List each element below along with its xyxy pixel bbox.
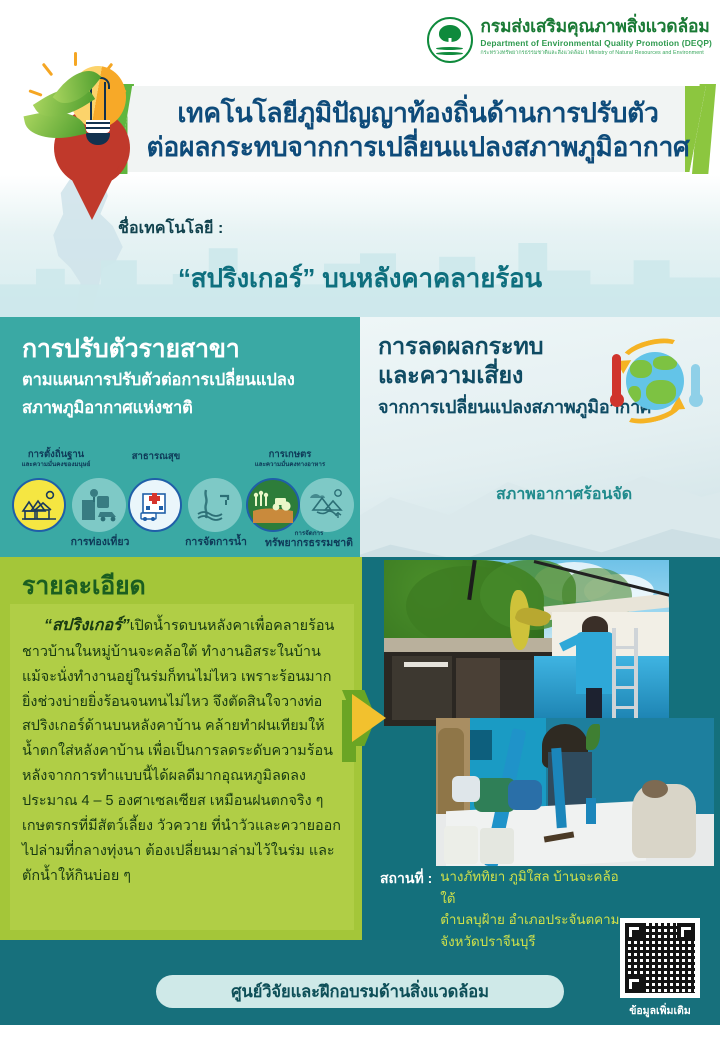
hospital-ambulance-icon[interactable] <box>128 478 182 532</box>
globe-thermometer-icon <box>594 334 702 430</box>
organization-logo-block: กรมส่งเสริมคุณภาพสิ่งแวดล้อม Department … <box>427 16 712 63</box>
org-name-thai: กรมส่งเสริมคุณภาพสิ่งแวดล้อม <box>480 17 712 37</box>
title-line-1: เทคโนโลยีภูมิปัญญาท้องถิ่นด้านการปรับตัว <box>177 96 658 130</box>
bottom-white-strip <box>0 1025 720 1040</box>
footer-pill: ศูนย์วิจัยและฝึกอบรมด้านสิ่งแวดล้อม <box>156 975 564 1008</box>
poster-root: กรมส่งเสริมคุณภาพสิ่งแวดล้อม Department … <box>0 0 720 1040</box>
technology-name: “สปริงเกอร์” บนหลังคาคลายร้อน <box>0 258 720 299</box>
place-label: สถานที่ : <box>380 866 432 890</box>
tree-water-circle-icon <box>427 17 473 63</box>
sector-label-natural-resources: การจัดการ ทรัพยากรธรรมชาติ <box>258 530 360 550</box>
details-title: รายละเอียด <box>22 566 146 606</box>
sector-label-water: การจัดการน้ำ <box>168 536 264 548</box>
adaptation-heading: การปรับตัวรายสาขา <box>22 334 295 365</box>
sector-label-public-health: สาธารณสุข <box>108 452 204 463</box>
adaptation-sub-line2: สภาพภูมิอากาศแห่งชาติ <box>22 396 295 421</box>
place-line-3: จังหวัดปราจีนบุรี <box>440 931 630 953</box>
tourism-city-car-icon[interactable] <box>72 478 126 532</box>
sector-label-tourism: การท่องเที่ยว <box>48 536 152 548</box>
details-body: “สปริงเกอร์”เปิดน้ำรดบนหลังคาเพื่อคลายร้… <box>22 612 342 889</box>
technology-label: ชื่อเทคโนโลยี : <box>118 216 223 241</box>
title-line-2: ต่อผลกระทบจากการเปลี่ยนแปลงสภาพภูมิอากาศ <box>146 130 689 164</box>
org-name-english: Department of Environmental Quality Prom… <box>480 38 712 49</box>
adaptation-panel-heading: การปรับตัวรายสาขา ตามแผนการปรับตัวต่อการ… <box>22 334 295 421</box>
sector-icons-row: การตั้งถิ่นฐาน และความมั่นคงของมนุษย์ <box>0 450 360 558</box>
village-houses-icon[interactable] <box>12 478 66 532</box>
earth-globe-icon <box>626 352 684 410</box>
thermometer-hot-icon <box>612 354 621 398</box>
water-river-tap-icon[interactable] <box>188 478 242 532</box>
photo-pvc-pipe-assembly <box>436 718 714 866</box>
photo-roof-sprinkler-install <box>384 560 669 726</box>
details-lead: “สปริงเกอร์” <box>44 617 130 634</box>
qr-caption: ข้อมูลเพิ่มเติม <box>606 1002 714 1019</box>
footer-text: ศูนย์วิจัยและฝึกอบรมด้านสิ่งแวดล้อม <box>231 979 489 1005</box>
page-title: เทคโนโลยีภูมิปัญญาท้องถิ่นด้านการปรับตัว… <box>140 90 696 170</box>
sector-label-settlements: การตั้งถิ่นฐาน และความมั่นคงของมนุษย์ <box>2 450 110 468</box>
org-ministry-line: กระทรวงทรัพยากรธรรมชาติและสิ่งแวดล้อม I … <box>480 50 712 57</box>
thermometer-cold-icon <box>691 364 700 398</box>
natural-resources-mountain-icon[interactable] <box>300 478 354 532</box>
place-value: นางภัททิยา ภูมิใสล บ้านจะคล้อใต้ ตำบลบุฝ… <box>440 866 630 953</box>
weather-caption: สภาพอากาศร้อนจัด <box>496 482 632 507</box>
place-row: สถานที่ : นางภัททิยา ภูมิใสล บ้านจะคล้อใ… <box>380 866 630 953</box>
agriculture-tractor-icon[interactable] <box>246 478 300 532</box>
qr-code-icon[interactable] <box>620 918 700 998</box>
place-line-1: นางภัททิยา ภูมิใสล บ้านจะคล้อใต้ <box>440 866 630 909</box>
adaptation-sub-line1: ตามแผนการปรับตัวต่อการเปลี่ยนแปลง <box>22 368 295 393</box>
bulb-neck <box>86 120 110 133</box>
organization-name-block: กรมส่งเสริมคุณภาพสิ่งแวดล้อม Department … <box>480 16 712 57</box>
lightbulb-leaf-pin-emblem <box>20 52 140 217</box>
sector-label-agriculture: การเกษตร และความมั่นคงทางอาหาร <box>236 450 344 468</box>
place-line-2: ตำบลบุฝ้าย อำเภอประจันตคาม <box>440 909 630 931</box>
details-text: เปิดน้ำรดบนหลังคาเพื่อคลายร้อน ชาวบ้านใน… <box>22 618 341 884</box>
